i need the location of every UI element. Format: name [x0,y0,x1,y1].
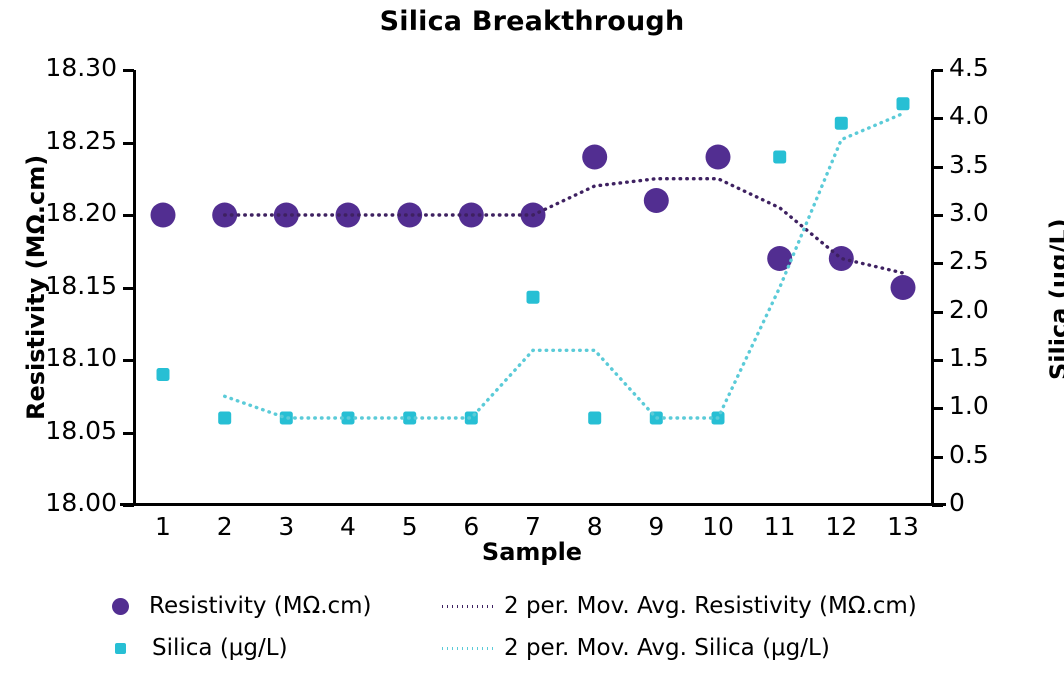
x-axis-tick-label: 13 [873,512,933,541]
legend-item-label: 2 per. Mov. Avg. Resistivity (MΩ.cm) [504,593,917,619]
legend-item[interactable]: Resistivity (MΩ.cm) [112,588,372,624]
data-point-resistivity [706,145,731,170]
data-point-silica [218,412,231,425]
left-axis-title: Resistivity (MΩ.cm) [22,155,50,420]
left-axis-tick-label: 18.00 [0,488,117,517]
data-point-silica [773,151,786,164]
data-point-resistivity [582,145,607,170]
legend-item[interactable]: Silica (μg/L) [112,630,288,666]
legend-square-icon [115,643,126,654]
right-axis-tick [932,504,943,507]
left-axis-tick-label: 18.30 [0,53,117,82]
data-point-resistivity [644,188,669,213]
data-point-resistivity [891,275,916,300]
right-axis-tick-label: 1.5 [949,343,989,372]
x-axis-tick-label: 9 [626,512,686,541]
legend-item-label: Silica (μg/L) [152,635,288,661]
right-axis-tick-label: 4.5 [949,53,989,82]
left-axis-tick-label: 18.15 [0,271,117,300]
plot-svg [133,70,933,505]
right-axis-tick [932,69,943,72]
chart-title: Silica Breakthrough [0,6,1064,37]
x-axis-tick-label: 3 [256,512,316,541]
right-axis-tick-label: 2.0 [949,295,989,324]
x-axis-tick-label: 5 [380,512,440,541]
legend-item-label: 2 per. Mov. Avg. Silica (μg/L) [504,635,830,661]
right-axis-tick-label: 2.5 [949,246,989,275]
x-axis-tick-label: 8 [565,512,625,541]
right-axis-tick [932,214,943,217]
x-axis-tick-label: 2 [195,512,255,541]
x-axis-tick-label: 7 [503,512,563,541]
right-axis-title: Silica (μg/L) [1045,218,1064,380]
left-axis-tick-label: 18.25 [0,126,117,155]
chart-legend: Resistivity (MΩ.cm)Silica (μg/L)2 per. M… [112,588,1012,668]
series-line [225,114,903,419]
right-axis-tick [932,311,943,314]
right-axis-tick-label: 1.0 [949,391,989,420]
data-point-silica [157,368,170,381]
data-point-silica [897,97,910,110]
data-point-silica [588,412,601,425]
left-axis-tick-label: 18.20 [0,198,117,227]
legend-dotted-line-icon [442,647,494,650]
right-axis-tick-label: 3.5 [949,150,989,179]
series-line [225,179,903,273]
right-axis-tick [932,407,943,410]
right-axis-tick-label: 3.0 [949,198,989,227]
plot-area [133,70,933,505]
chart-container: Silica Breakthrough 18.0018.0518.1018.15… [0,0,1064,673]
x-axis-tick-label: 11 [750,512,810,541]
right-axis-tick-label: 0.5 [949,440,989,469]
right-axis-tick [932,262,943,265]
data-point-silica [835,117,848,130]
left-axis-tick-label: 18.05 [0,416,117,445]
left-axis-tick-label: 18.10 [0,343,117,372]
right-axis-tick [932,117,943,120]
x-axis-title: Sample [0,538,1064,566]
right-axis-tick [932,166,943,169]
legend-dot-icon [112,598,129,615]
right-axis-tick [932,359,943,362]
x-axis-tick-label: 4 [318,512,378,541]
x-axis-tick-label: 12 [811,512,871,541]
data-point-resistivity [151,203,176,228]
x-axis-tick-label: 6 [441,512,501,541]
legend-item[interactable]: 2 per. Mov. Avg. Resistivity (MΩ.cm) [442,588,917,624]
right-axis-tick-label: 4.0 [949,101,989,130]
x-axis-tick-label: 1 [133,512,193,541]
x-axis-tick-label: 10 [688,512,748,541]
data-point-silica [527,291,540,304]
legend-item-label: Resistivity (MΩ.cm) [149,593,372,619]
legend-item[interactable]: 2 per. Mov. Avg. Silica (μg/L) [442,630,830,666]
right-axis-tick-label: 0 [949,488,965,517]
legend-dotted-line-icon [442,605,494,608]
right-axis-tick [932,456,943,459]
